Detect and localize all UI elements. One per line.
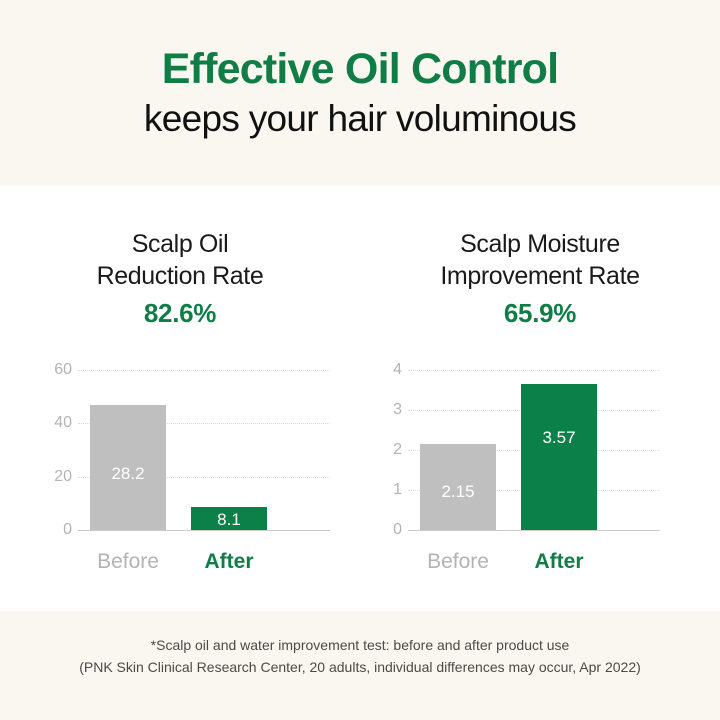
y-axis-tick-label: 60 <box>0 361 72 379</box>
charts-panel: Scalp Oil Reduction Rate 82.6% 020406028… <box>0 186 720 611</box>
chart-scalp-moisture-improvement: Scalp Moisture Improvement Rate 65.9% 01… <box>360 186 720 611</box>
y-axis-tick-label: 0 <box>360 521 402 539</box>
y-axis-tick-label: 4 <box>360 361 402 379</box>
category-label-after: After <box>534 550 583 574</box>
y-axis-tick-label: 0 <box>0 521 72 539</box>
gridline <box>78 370 330 371</box>
header-band: Effective Oil Control keeps your hair vo… <box>0 0 720 186</box>
bar-value-label: 28.2 <box>90 464 166 484</box>
axis-line <box>78 530 330 531</box>
axis-line <box>408 530 660 531</box>
bar-value-label: 2.15 <box>420 482 496 502</box>
footnote-line-1: *Scalp oil and water improvement test: b… <box>151 635 570 657</box>
bar-after: 8.1 <box>191 507 267 530</box>
bar-before: 2.15 <box>420 444 496 530</box>
footnote-band: *Scalp oil and water improvement test: b… <box>0 611 720 720</box>
page-title: Effective Oil Control <box>162 46 559 92</box>
plot-area-oil: 020406028.2Before8.1After <box>0 186 360 611</box>
bar-value-label: 3.57 <box>521 428 597 448</box>
promo-infographic: Effective Oil Control keeps your hair vo… <box>0 0 720 720</box>
y-axis-tick-label: 40 <box>0 414 72 432</box>
y-axis-tick-label: 1 <box>360 481 402 499</box>
charts-row: Scalp Oil Reduction Rate 82.6% 020406028… <box>0 186 720 611</box>
page-subtitle: keeps your hair voluminous <box>144 99 576 140</box>
plot-area-moisture: 012342.15Before3.57After <box>360 186 720 611</box>
y-axis-tick-label: 2 <box>360 441 402 459</box>
bar-before: 28.2 <box>90 405 166 530</box>
y-axis-tick-label: 3 <box>360 401 402 419</box>
bar-value-label: 8.1 <box>191 510 267 530</box>
footnote-line-2: (PNK Skin Clinical Research Center, 20 a… <box>79 657 641 679</box>
category-label-before: Before <box>427 550 489 574</box>
category-label-before: Before <box>97 550 159 574</box>
bar-after: 3.57 <box>521 384 597 530</box>
y-axis-tick-label: 20 <box>0 468 72 486</box>
gridline <box>408 370 660 371</box>
chart-scalp-oil-reduction: Scalp Oil Reduction Rate 82.6% 020406028… <box>0 186 360 611</box>
category-label-after: After <box>204 550 253 574</box>
